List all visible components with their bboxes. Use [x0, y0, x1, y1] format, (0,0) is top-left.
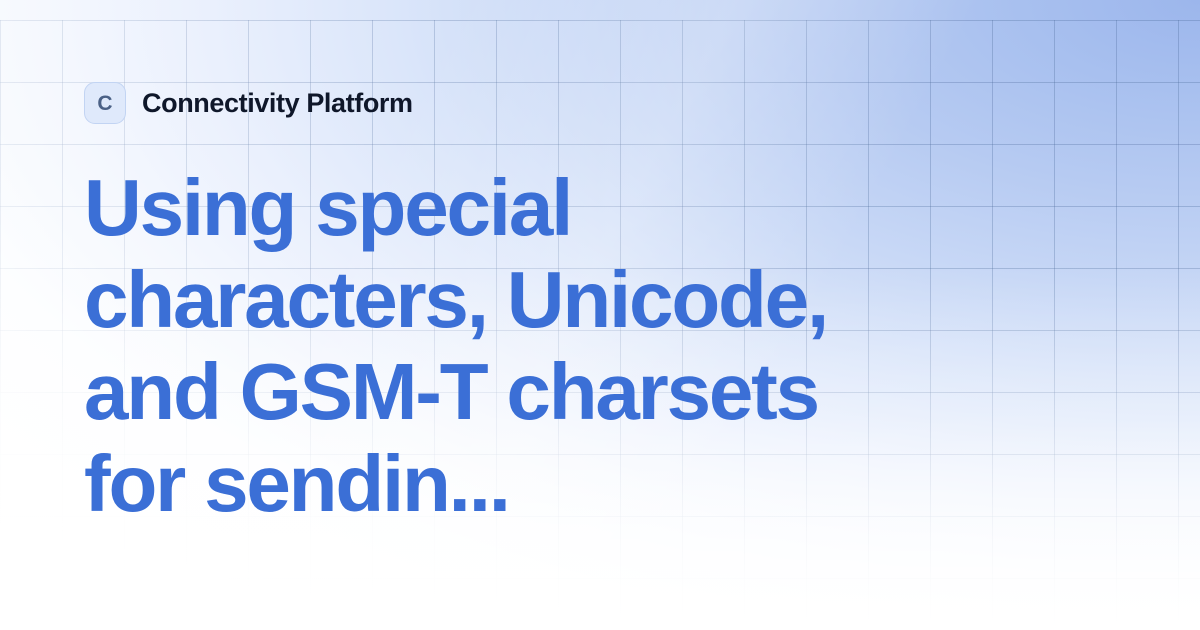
brand-name-label: Connectivity Platform [142, 90, 413, 117]
headline-line-3: and GSM-T charsets [84, 346, 1044, 438]
brand-lockup: C Connectivity Platform [84, 82, 413, 124]
social-card: C Connectivity Platform Using special ch… [0, 0, 1200, 630]
headline-line-2: characters, Unicode, [84, 254, 1044, 346]
headline-line-1: Using special [84, 162, 1044, 254]
connectivity-platform-logo-icon: C [84, 82, 126, 124]
headline-line-4: for sendin... [84, 438, 1044, 530]
card-content: C Connectivity Platform Using special ch… [84, 0, 1124, 630]
page-title: Using special characters, Unicode, and G… [84, 162, 1044, 530]
